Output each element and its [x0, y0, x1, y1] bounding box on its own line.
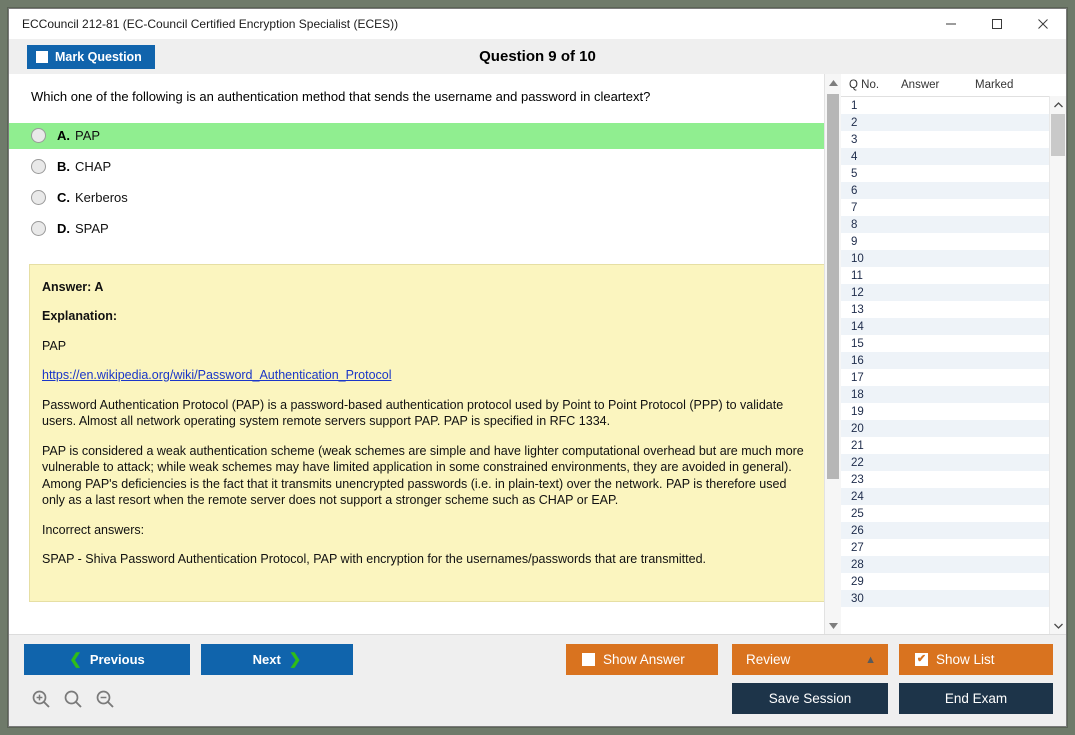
window-controls [928, 9, 1066, 39]
question-pane-content: Which one of the following is an authent… [9, 88, 841, 602]
option-text: PAP [75, 128, 100, 143]
row-question-number: 20 [851, 423, 903, 435]
question-pane: Which one of the following is an authent… [9, 74, 841, 634]
explanation-short: PAP [42, 338, 812, 355]
show-answer-button[interactable]: Show Answer [566, 644, 718, 675]
answer-option-a[interactable]: A. PAP [9, 123, 829, 149]
question-list-row[interactable]: 16 [841, 352, 1049, 369]
question-list-pane: Q No. Answer Marked 12345678910111213141… [841, 74, 1066, 634]
end-exam-button[interactable]: End Exam [899, 683, 1053, 714]
zoom-reset-icon[interactable] [63, 689, 83, 714]
scrollbar-thumb[interactable] [827, 94, 839, 479]
row-question-number: 16 [851, 355, 903, 367]
previous-label: Previous [90, 652, 145, 667]
maximize-icon[interactable] [974, 9, 1020, 39]
radio-icon[interactable] [31, 159, 46, 174]
list-scroll-down-icon[interactable] [1050, 617, 1066, 634]
next-button[interactable]: Next ❯ [201, 644, 353, 675]
previous-button[interactable]: ❮ Previous [24, 644, 190, 675]
question-list-row[interactable]: 8 [841, 216, 1049, 233]
row-question-number: 17 [851, 372, 903, 384]
question-list-row[interactable]: 1 [841, 97, 1049, 114]
answer-option-b[interactable]: B. CHAP [9, 154, 841, 180]
option-letter: B. [57, 159, 70, 174]
question-list-row[interactable]: 9 [841, 233, 1049, 250]
row-question-number: 3 [851, 134, 903, 146]
title-bar: ECCouncil 212-81 (EC-Council Certified E… [9, 9, 1066, 39]
question-header-bar: Mark Question Question 9 of 10 [9, 39, 1066, 74]
row-question-number: 13 [851, 304, 903, 316]
question-list-row[interactable]: 11 [841, 267, 1049, 284]
show-answer-checkbox-icon [582, 653, 595, 666]
wikipedia-link[interactable]: https://en.wikipedia.org/wiki/Password_A… [42, 368, 392, 382]
question-list-row[interactable]: 3 [841, 131, 1049, 148]
row-question-number: 26 [851, 525, 903, 537]
question-text: Which one of the following is an authent… [31, 88, 819, 106]
explanation-para-3: SPAP - Shiva Password Authentication Pro… [42, 551, 812, 568]
question-list-wrap: 1234567891011121314151617181920212223242… [841, 96, 1066, 634]
close-icon[interactable] [1020, 9, 1066, 39]
show-answer-label: Show Answer [603, 652, 685, 667]
question-list-row[interactable]: 15 [841, 335, 1049, 352]
column-header-answer: Answer [901, 79, 975, 91]
row-question-number: 24 [851, 491, 903, 503]
question-list-row[interactable]: 23 [841, 471, 1049, 488]
row-question-number: 25 [851, 508, 903, 520]
question-list-row[interactable]: 22 [841, 454, 1049, 471]
row-question-number: 19 [851, 406, 903, 418]
zoom-in-icon[interactable] [31, 689, 51, 714]
row-question-number: 28 [851, 559, 903, 571]
explanation-link-wrap: https://en.wikipedia.org/wiki/Password_A… [42, 367, 812, 384]
option-text: CHAP [75, 159, 111, 174]
row-question-number: 30 [851, 593, 903, 605]
option-letter: A. [57, 128, 70, 143]
radio-icon[interactable] [31, 190, 46, 205]
mark-question-button[interactable]: Mark Question [27, 45, 155, 69]
question-list-row[interactable]: 26 [841, 522, 1049, 539]
zoom-controls [31, 689, 115, 714]
row-question-number: 4 [851, 151, 903, 163]
review-dropdown-button[interactable]: Review ▲ [732, 644, 888, 675]
zoom-out-icon[interactable] [95, 689, 115, 714]
column-header-marked: Marked [975, 79, 1035, 91]
row-question-number: 18 [851, 389, 903, 401]
list-scroll-up-icon[interactable] [1050, 96, 1066, 113]
radio-icon[interactable] [31, 128, 46, 143]
question-list-row[interactable]: 13 [841, 301, 1049, 318]
row-question-number: 29 [851, 576, 903, 588]
option-text: SPAP [75, 221, 109, 236]
scroll-down-icon[interactable] [825, 617, 841, 634]
question-list-scrollbar[interactable] [1049, 96, 1066, 634]
radio-icon[interactable] [31, 221, 46, 236]
show-list-button[interactable]: ✔ Show List [899, 644, 1053, 675]
row-question-number: 7 [851, 202, 903, 214]
question-list-row[interactable]: 2 [841, 114, 1049, 131]
footer-bar: ❮ Previous Next ❯ Show Answer Review ▲ ✔… [9, 634, 1066, 726]
question-list-rows: 1234567891011121314151617181920212223242… [841, 96, 1049, 634]
row-question-number: 21 [851, 440, 903, 452]
exam-window: ECCouncil 212-81 (EC-Council Certified E… [8, 8, 1067, 727]
question-list-row[interactable]: 21 [841, 437, 1049, 454]
option-text: Kerberos [75, 190, 128, 205]
question-list-row[interactable]: 5 [841, 165, 1049, 182]
question-list-row[interactable]: 20 [841, 420, 1049, 437]
next-label: Next [253, 652, 281, 667]
mark-question-label: Mark Question [55, 50, 142, 64]
explanation-label: Explanation: [42, 308, 812, 325]
question-list-row[interactable]: 6 [841, 182, 1049, 199]
chevron-left-icon: ❮ [69, 652, 82, 667]
row-question-number: 10 [851, 253, 903, 265]
question-list-row[interactable]: 14 [841, 318, 1049, 335]
question-list-row[interactable]: 17 [841, 369, 1049, 386]
row-question-number: 1 [851, 100, 903, 112]
save-session-label: Save Session [769, 691, 852, 706]
answer-option-d[interactable]: D. SPAP [9, 216, 841, 242]
explanation-panel: Answer: A Explanation: PAP https://en.wi… [29, 264, 829, 602]
window-title: ECCouncil 212-81 (EC-Council Certified E… [9, 17, 398, 31]
row-question-number: 27 [851, 542, 903, 554]
minimize-icon[interactable] [928, 9, 974, 39]
row-question-number: 15 [851, 338, 903, 350]
show-list-label: Show List [936, 652, 995, 667]
question-list-row[interactable]: 10 [841, 250, 1049, 267]
scroll-up-icon[interactable] [825, 74, 841, 91]
column-header-qno: Q No. [849, 79, 901, 91]
question-list-row[interactable]: 19 [841, 403, 1049, 420]
row-question-number: 9 [851, 236, 903, 248]
end-exam-label: End Exam [945, 691, 1007, 706]
answer-line: Answer: A [42, 279, 812, 296]
row-question-number: 23 [851, 474, 903, 486]
chevron-up-icon: ▲ [865, 654, 876, 666]
answer-option-c[interactable]: C. Kerberos [9, 185, 841, 211]
mark-question-checkbox-icon [36, 51, 48, 63]
option-letter: D. [57, 221, 70, 236]
explanation-incorrect-label: Incorrect answers: [42, 522, 812, 539]
list-scrollbar-thumb[interactable] [1051, 114, 1065, 156]
chevron-right-icon: ❯ [289, 652, 302, 667]
question-list-row[interactable]: 30 [841, 590, 1049, 607]
question-list-row[interactable]: 25 [841, 505, 1049, 522]
row-question-number: 14 [851, 321, 903, 333]
row-question-number: 5 [851, 168, 903, 180]
question-list-header: Q No. Answer Marked [841, 74, 1066, 96]
question-list-row[interactable]: 28 [841, 556, 1049, 573]
row-question-number: 2 [851, 117, 903, 129]
explanation-para-1: Password Authentication Protocol (PAP) i… [42, 397, 812, 430]
question-list-row[interactable]: 4 [841, 148, 1049, 165]
row-question-number: 8 [851, 219, 903, 231]
question-list-row[interactable]: 29 [841, 573, 1049, 590]
row-question-number: 6 [851, 185, 903, 197]
question-list-row[interactable]: 12 [841, 284, 1049, 301]
row-question-number: 12 [851, 287, 903, 299]
main-body: Which one of the following is an authent… [9, 74, 1066, 634]
explanation-para-2: PAP is considered a weak authentication … [42, 443, 812, 509]
question-list-row[interactable]: 24 [841, 488, 1049, 505]
answer-options: A. PAP B. CHAP C. Kerberos [9, 123, 841, 242]
page-title: Question 9 of 10 [9, 48, 1066, 65]
question-pane-scrollbar[interactable] [824, 74, 841, 634]
question-list-row[interactable]: 7 [841, 199, 1049, 216]
show-list-checkbox-icon: ✔ [915, 653, 928, 666]
save-session-button[interactable]: Save Session [732, 683, 888, 714]
question-list-row[interactable]: 18 [841, 386, 1049, 403]
row-question-number: 11 [851, 270, 903, 282]
option-letter: C. [57, 190, 70, 205]
review-label: Review [746, 652, 790, 667]
row-question-number: 22 [851, 457, 903, 469]
question-list-row[interactable]: 27 [841, 539, 1049, 556]
